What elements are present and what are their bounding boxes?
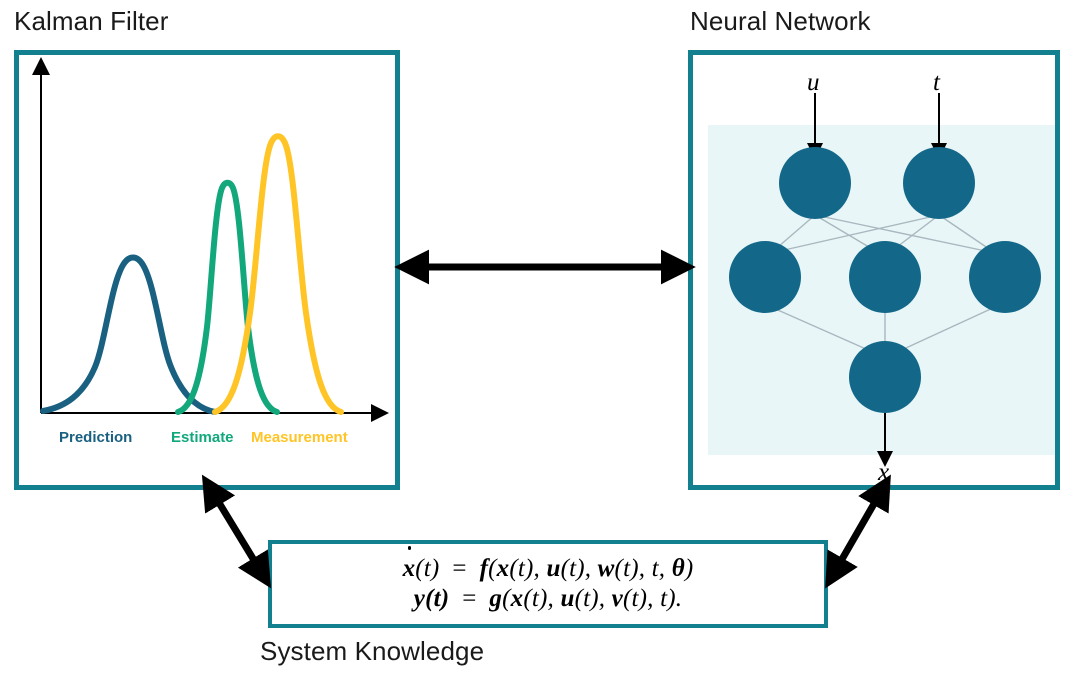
arrow-kalman-to-knowledge [207,483,266,580]
curve-measurement [215,136,341,412]
neural-network-panel: u t x [688,50,1060,490]
system-knowledge-title: System Knowledge [260,636,484,667]
kalman-filter-chart [19,55,395,485]
input-label-t: t [933,69,940,97]
curve-prediction [43,258,215,413]
equation-state: x(t) = f(x(t), u(t), w(t), t, θ) [403,554,694,585]
legend-item-estimate: Estimate [171,429,234,446]
node-hidden-1 [729,241,801,313]
neural-network-graph [693,55,1055,485]
neural-network-title: Neural Network [690,6,871,37]
system-knowledge-panel: x(t) = f(x(t), u(t), w(t), t, θ) y(t) = … [268,540,828,628]
node-hidden-3 [969,241,1041,313]
node-input-1 [779,147,851,219]
arrow-knowledge-to-network [830,483,886,580]
legend-item-prediction: Prediction [59,429,132,446]
kalman-filter-title: Kalman Filter [14,6,168,37]
kalman-filter-panel: Prediction Estimate Measurement [14,50,400,490]
node-hidden-2 [849,241,921,313]
equation-output: y(t) = g(x(t), u(t), v(t), t). [414,584,682,615]
node-output-1 [849,341,921,413]
legend-item-measurement: Measurement [251,429,348,446]
output-label-x: x [878,459,889,487]
diagram-canvas: Kalman Filter Prediction Estimate Measur… [0,0,1074,690]
node-input-2 [903,147,975,219]
input-label-u: u [807,69,820,97]
